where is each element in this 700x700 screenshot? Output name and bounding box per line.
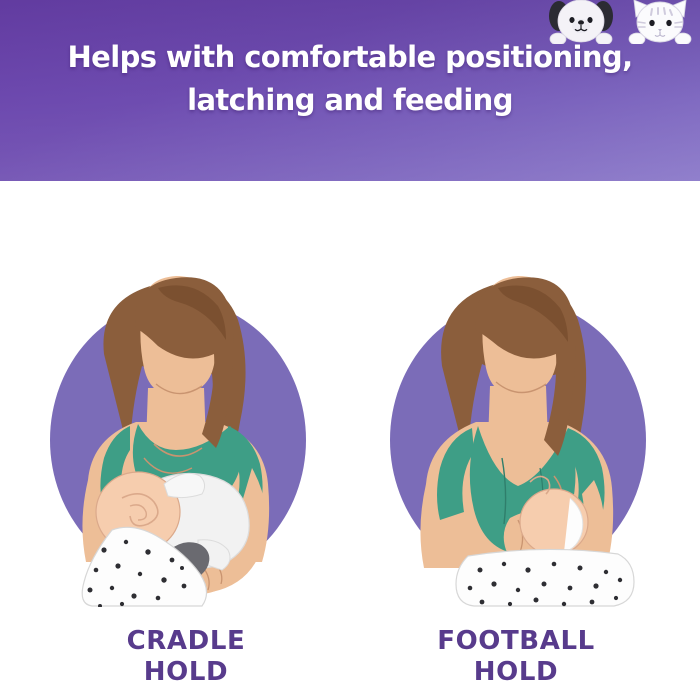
caption-cradle-line-1: CRADLE [36, 626, 336, 657]
illustration-football-hold: Mother holding baby tucked at her side u… [368, 262, 668, 607]
header-banner: Helps with comfortable positioning, latc… [0, 0, 700, 181]
dog-face-icon [544, 0, 618, 44]
illustration-cradle-hold: Mother seated holding baby across her bo… [26, 262, 326, 607]
caption-football-hold: FOOTBALL HOLD [366, 626, 666, 688]
blanket-shape [456, 549, 634, 606]
cat-face-icon [624, 0, 696, 44]
pet-sticker-group [540, 0, 696, 44]
caption-football-line-1: FOOTBALL [366, 626, 666, 657]
promo-infographic: Helps with comfortable positioning, latc… [0, 0, 700, 700]
caption-cradle-line-2: HOLD [36, 657, 336, 688]
caption-cradle-hold: CRADLE HOLD [36, 626, 336, 688]
banner-headline-line-2: latching and feeding [0, 79, 700, 122]
banner-headline: Helps with comfortable positioning, latc… [0, 36, 700, 122]
blanket [456, 549, 634, 606]
caption-football-line-2: HOLD [366, 657, 666, 688]
